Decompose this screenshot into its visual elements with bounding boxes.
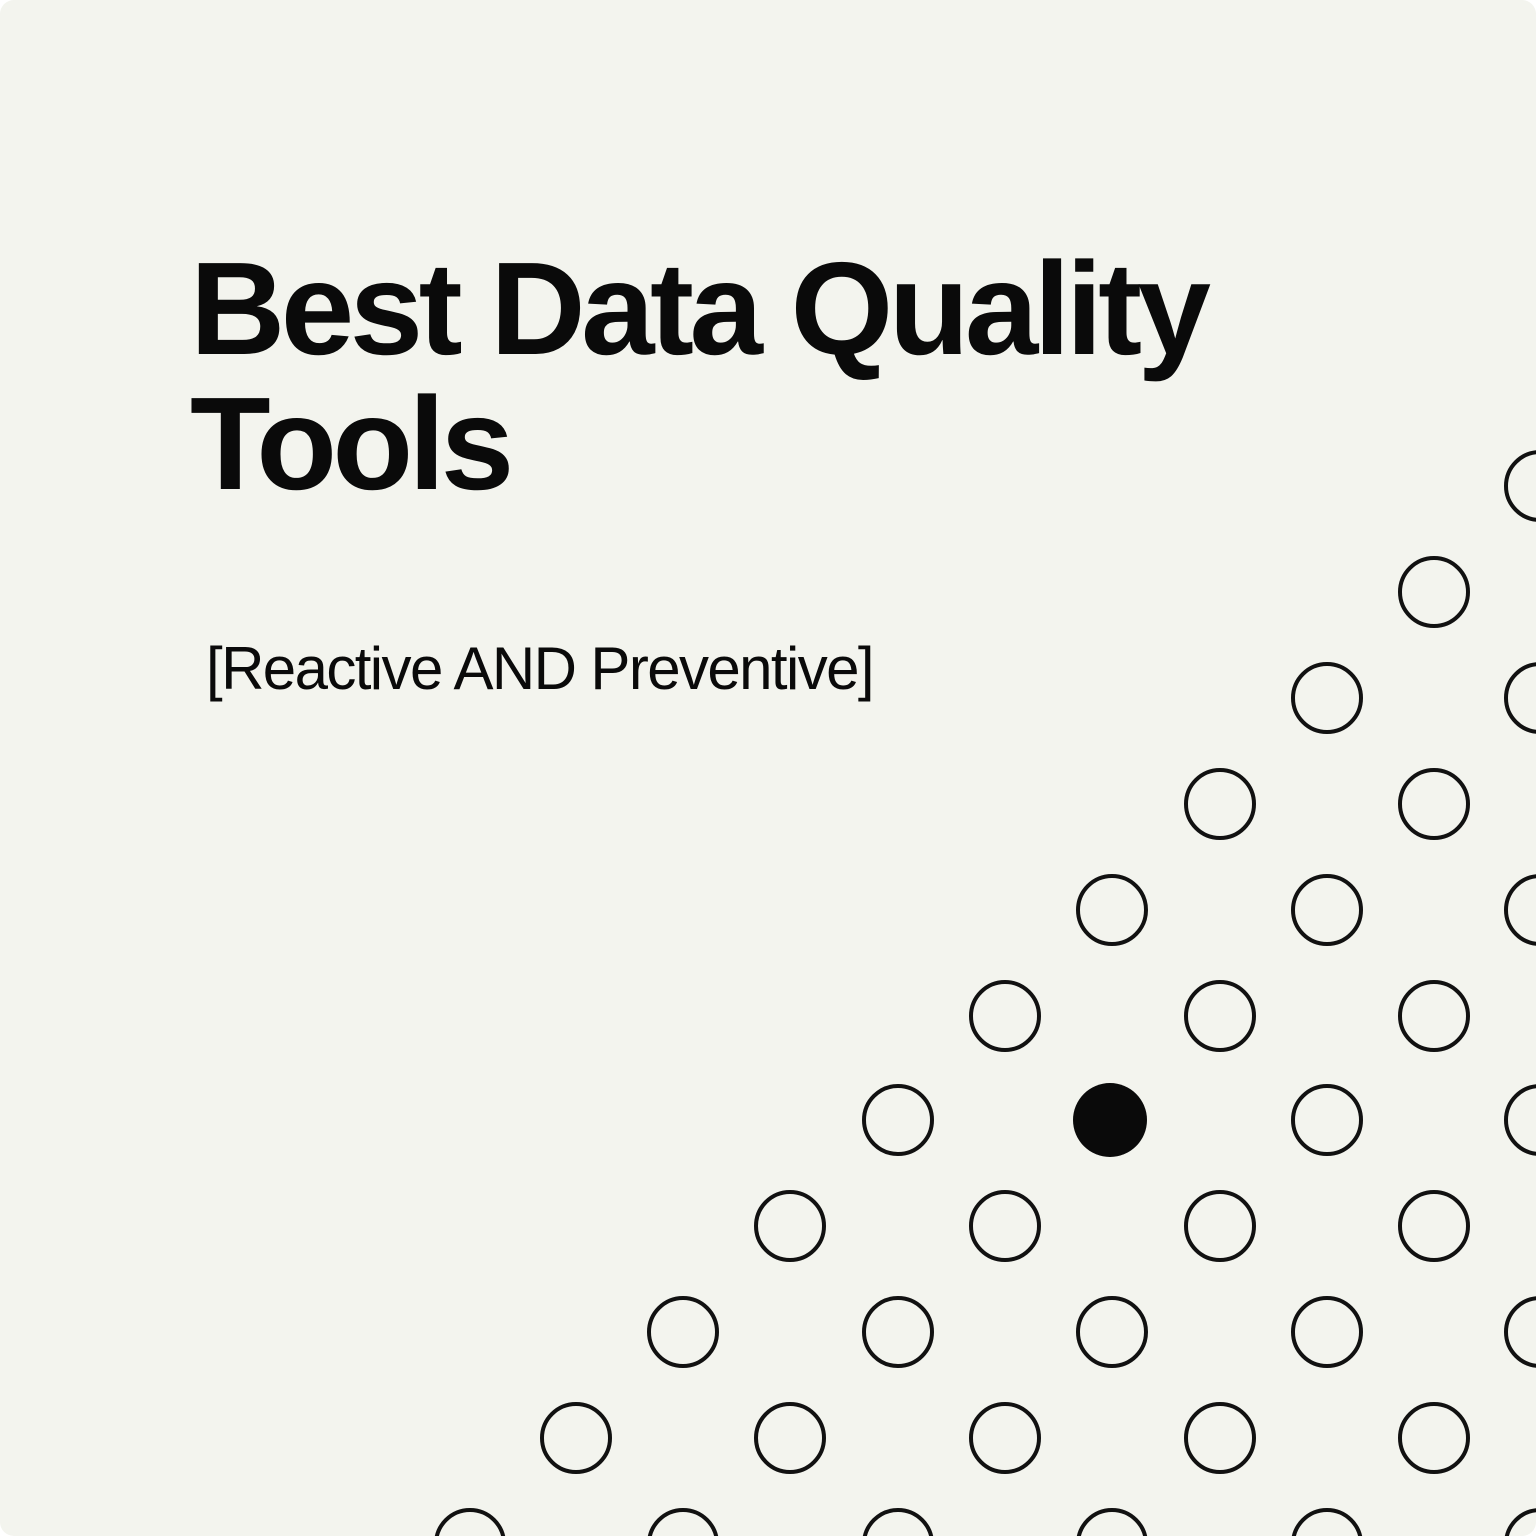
page-subtitle: [Reactive AND Preventive]	[206, 636, 873, 702]
dot-outline	[436, 1510, 504, 1536]
dot-outline	[1186, 1192, 1254, 1260]
dot-outline	[1506, 1086, 1536, 1154]
dot-outline	[1506, 1298, 1536, 1366]
promo-card: Best Data Quality Tools [Reactive AND Pr…	[0, 0, 1536, 1536]
halftone-dot-grid	[0, 0, 1536, 1536]
dot-outline-group	[436, 452, 1536, 1536]
dot-outline	[1400, 1404, 1468, 1472]
dot-outline	[1506, 876, 1536, 944]
dot-outline	[1078, 1510, 1146, 1536]
page-title: Best Data Quality Tools	[190, 242, 1250, 511]
dot-outline	[1293, 1510, 1361, 1536]
dot-outline	[756, 1192, 824, 1260]
dot-outline	[649, 1510, 717, 1536]
dot-outline	[1506, 452, 1536, 520]
dot-outline	[864, 1086, 932, 1154]
dot-outline	[1186, 1404, 1254, 1472]
dot-outline	[1506, 664, 1536, 732]
dot-outline	[542, 1404, 610, 1472]
dot-outline	[1293, 876, 1361, 944]
dot-outline	[1506, 1510, 1536, 1536]
filled-dot	[1073, 1083, 1147, 1157]
dot-outline	[1400, 558, 1468, 626]
dot-outline	[1078, 1298, 1146, 1366]
dot-outline	[864, 1298, 932, 1366]
dot-outline	[864, 1510, 932, 1536]
dot-outline	[971, 982, 1039, 1050]
dot-outline	[1400, 982, 1468, 1050]
dot-outline	[1293, 664, 1361, 732]
dot-outline	[756, 1404, 824, 1472]
dot-outline	[1186, 770, 1254, 838]
dot-outline	[1400, 1192, 1468, 1260]
dot-outline	[649, 1298, 717, 1366]
dot-outline	[1293, 1298, 1361, 1366]
dot-outline	[1186, 982, 1254, 1050]
text-block: Best Data Quality Tools [Reactive AND Pr…	[190, 242, 1250, 511]
dot-outline	[971, 1192, 1039, 1260]
dot-outline	[1400, 770, 1468, 838]
dot-outline	[1078, 876, 1146, 944]
dot-outline	[971, 1404, 1039, 1472]
dot-outline	[1293, 1086, 1361, 1154]
